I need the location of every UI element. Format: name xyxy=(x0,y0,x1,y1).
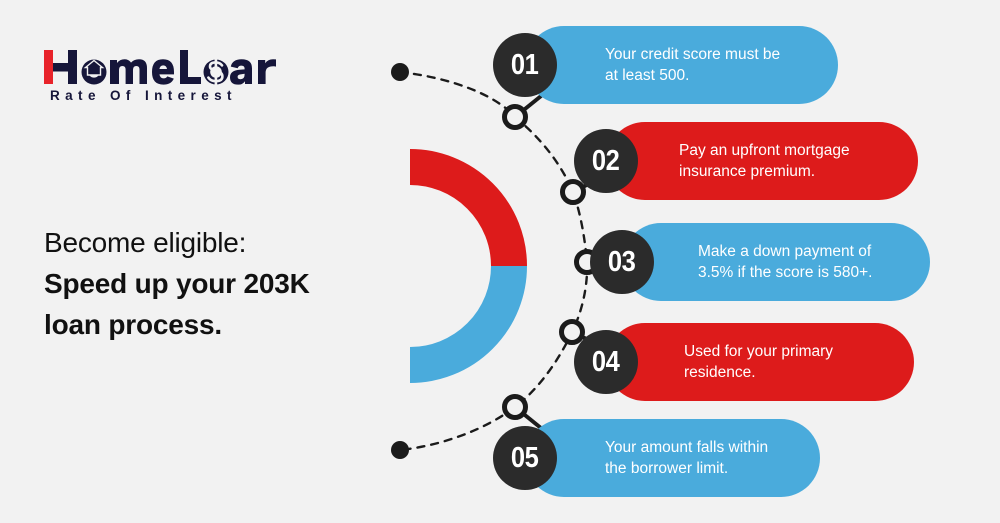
step-text-02-line2: insurance premium. xyxy=(679,161,850,182)
page-title: Become eligible: Speed up your 203K loan… xyxy=(44,222,384,345)
step-text-05-line1: Your amount falls within xyxy=(605,437,768,458)
step-text-04-line1: Used for your primary xyxy=(684,341,833,362)
step-pill-02[interactable]: Pay an upfront mortgage insurance premiu… xyxy=(606,122,918,200)
step-badge-03[interactable]: 03 xyxy=(590,230,654,294)
step-badge-01[interactable]: 01 xyxy=(493,33,557,97)
step-pill-03[interactable]: Make a down payment of 3.5% if the score… xyxy=(622,223,930,301)
path-node-2[interactable] xyxy=(563,182,584,203)
step-number-05: 05 xyxy=(511,442,539,475)
path-end-dot xyxy=(391,441,409,459)
step-badge-04[interactable]: 04 xyxy=(574,330,638,394)
step-text-03-line1: Make a down payment of xyxy=(698,241,872,262)
path-node-1[interactable] xyxy=(505,107,526,128)
logo-letter-a xyxy=(230,59,252,84)
step-item-02[interactable]: Pay an upfront mortgage insurance premiu… xyxy=(606,122,918,200)
step-item-04[interactable]: Used for your primary residence. 04 xyxy=(606,323,914,401)
step-item-05[interactable]: Your amount falls within the borrower li… xyxy=(525,419,820,497)
step-text-05: Your amount falls within the borrower li… xyxy=(605,437,768,479)
blue-lower-arc xyxy=(410,266,509,365)
brand-logo: Rate Of Interest xyxy=(44,46,304,108)
step-number-02: 02 xyxy=(592,145,620,178)
headline-line-3: loan process. xyxy=(44,304,384,345)
donut-arc-graphic xyxy=(388,148,548,384)
step-badge-02[interactable]: 02 xyxy=(574,129,638,193)
logo-lettering xyxy=(44,46,276,88)
step-item-03[interactable]: Make a down payment of 3.5% if the score… xyxy=(622,223,930,301)
step-text-04-line2: residence. xyxy=(684,362,833,383)
path-node-4[interactable] xyxy=(562,322,583,343)
logo-letter-n xyxy=(258,59,276,84)
step-number-04: 04 xyxy=(592,346,620,379)
step-text-01: Your credit score must be at least 500. xyxy=(605,44,780,86)
logo-wordmark xyxy=(44,46,274,86)
step-text-01-line1: Your credit score must be xyxy=(605,44,780,65)
logo-h-right-stem xyxy=(68,50,77,84)
logo-letter-l xyxy=(180,50,201,84)
step-pill-04[interactable]: Used for your primary residence. xyxy=(606,323,914,401)
logo-tagline: Rate Of Interest xyxy=(50,88,237,103)
step-item-01[interactable]: Your credit score must be at least 500. … xyxy=(525,26,838,104)
step-number-01: 01 xyxy=(511,49,539,82)
logo-h-red-stem xyxy=(44,50,53,84)
step-text-05-line2: the borrower limit. xyxy=(605,458,768,479)
step-text-03-line2: 3.5% if the score is 580+. xyxy=(698,262,872,283)
step-badge-05[interactable]: 05 xyxy=(493,426,557,490)
step-text-01-line2: at least 500. xyxy=(605,65,780,86)
step-text-04: Used for your primary residence. xyxy=(684,341,833,383)
path-node-5[interactable] xyxy=(505,397,526,418)
logo-letter-m xyxy=(110,59,147,84)
step-text-03: Make a down payment of 3.5% if the score… xyxy=(698,241,872,283)
logo-letter-e xyxy=(152,59,174,84)
step-text-02-line1: Pay an upfront mortgage xyxy=(679,140,850,161)
headline-line-1: Become eligible: xyxy=(44,222,384,263)
step-pill-01[interactable]: Your credit score must be at least 500. xyxy=(525,26,838,104)
path-start-dot xyxy=(391,63,409,81)
red-upper-arc xyxy=(410,167,509,266)
headline-line-2: Speed up your 203K xyxy=(44,263,384,304)
infographic-canvas: Rate Of Interest Become eligible: Speed … xyxy=(0,0,1000,523)
step-text-02: Pay an upfront mortgage insurance premiu… xyxy=(679,140,850,182)
step-pill-05[interactable]: Your amount falls within the borrower li… xyxy=(525,419,820,497)
step-number-03: 03 xyxy=(608,246,636,279)
